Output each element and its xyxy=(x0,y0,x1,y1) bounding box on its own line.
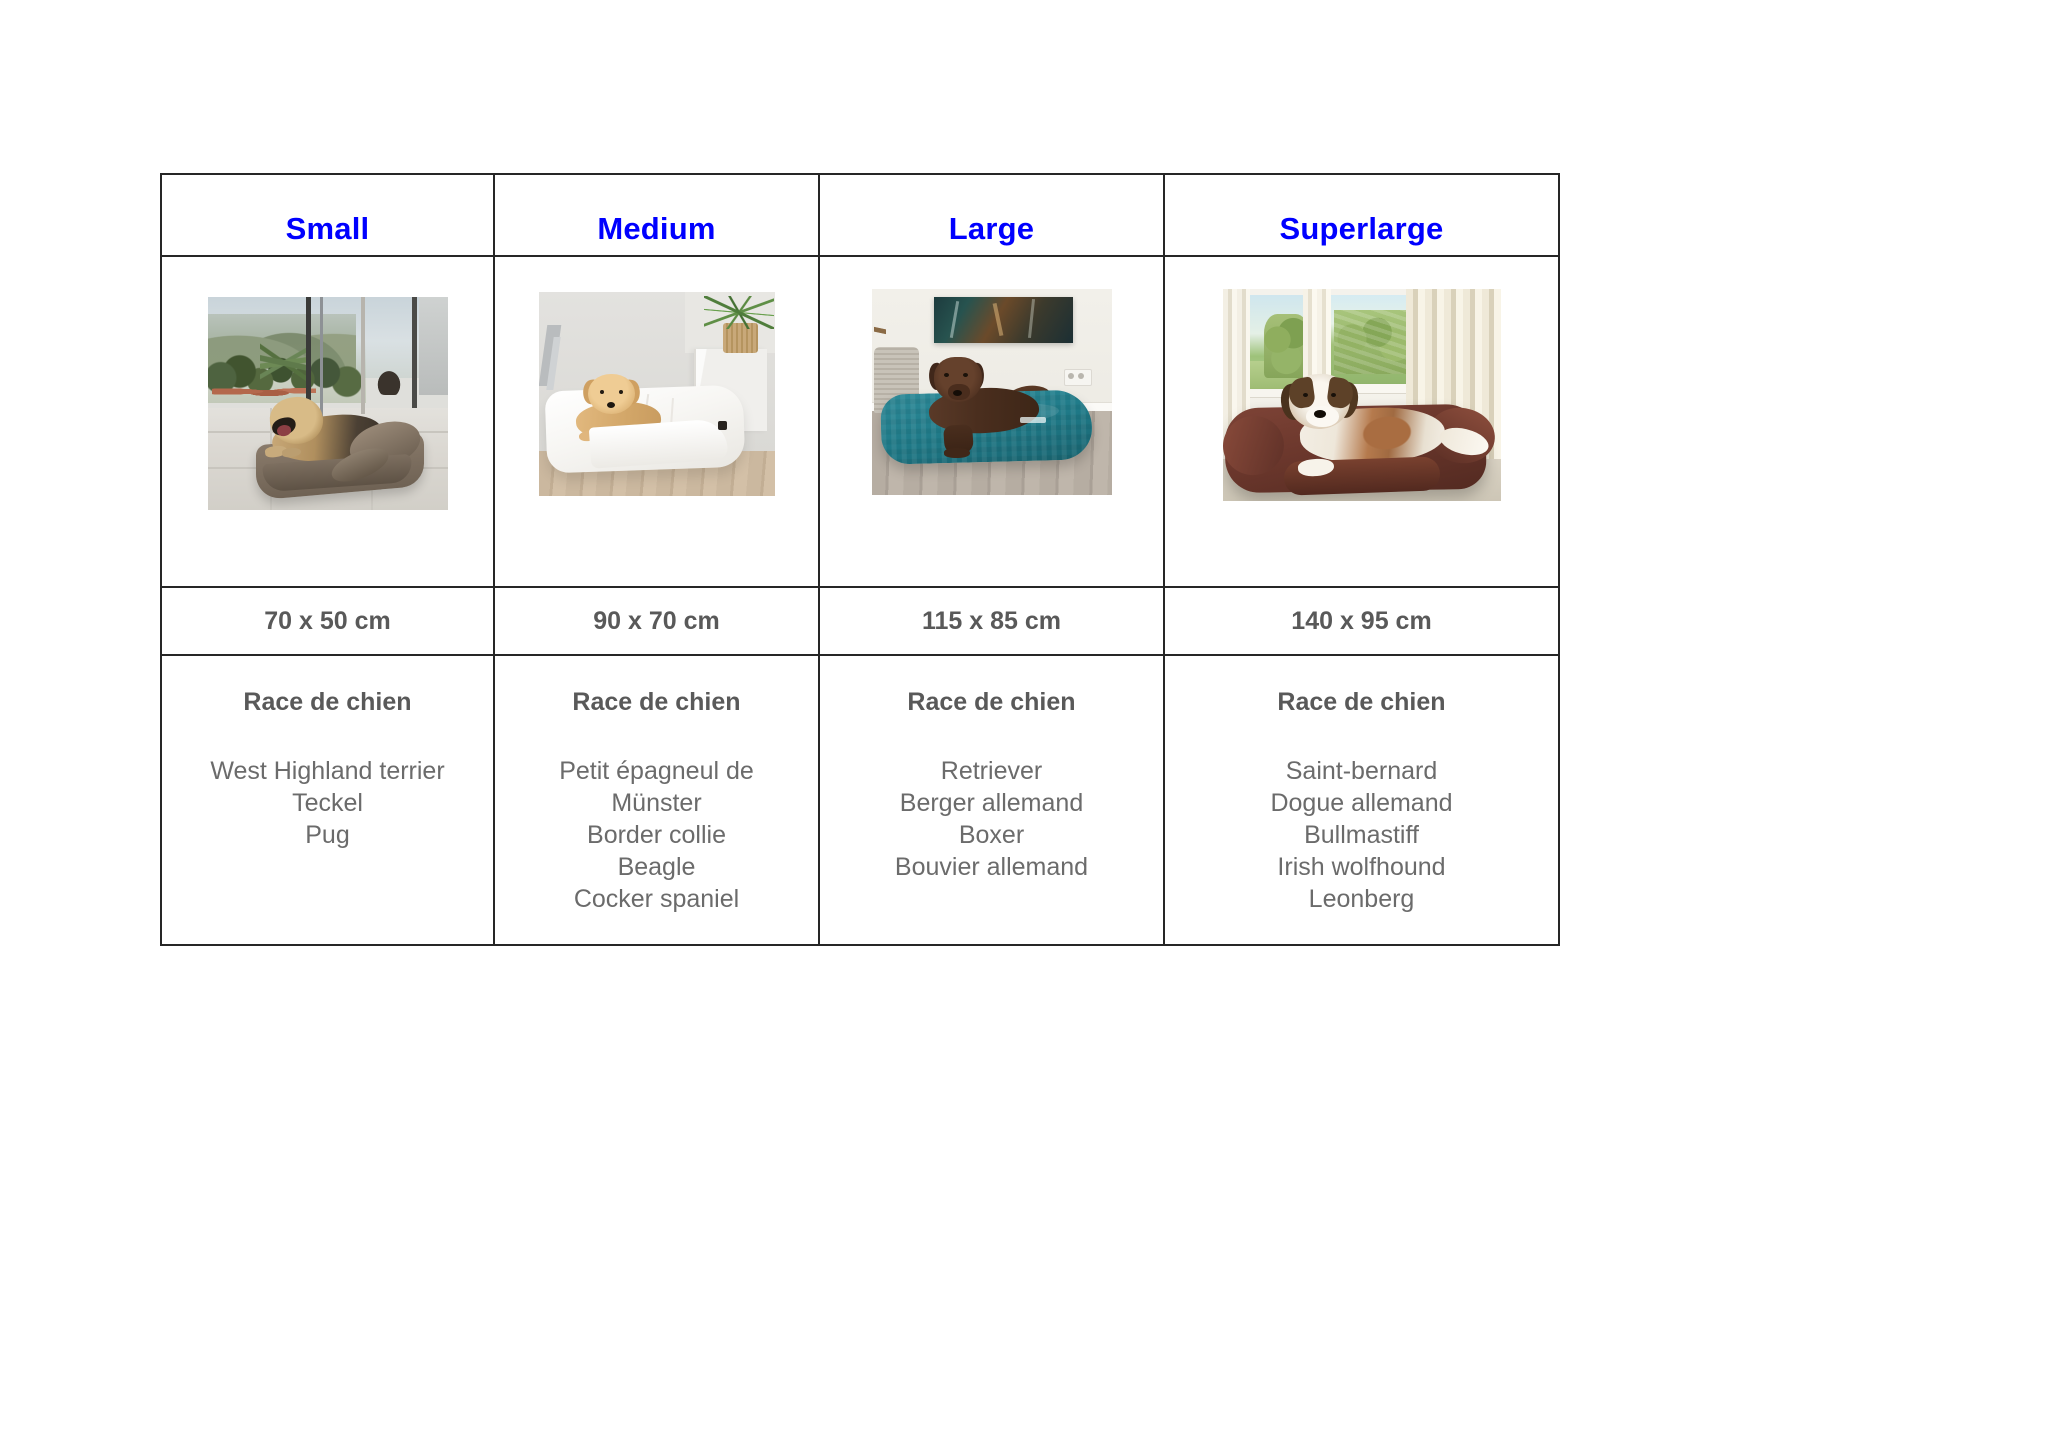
breed-cell-large: Race de chien Retriever Berger allemand … xyxy=(819,655,1164,945)
dimension-value-medium: 90 x 70 cm xyxy=(495,609,818,634)
breed-cell-superlarge: Race de chien Saint-bernard Dogue allema… xyxy=(1164,655,1559,945)
photo-medium-dog-bed xyxy=(539,292,775,496)
dimension-value-large: 115 x 85 cm xyxy=(820,609,1163,634)
photo-wrap-superlarge xyxy=(1165,257,1558,586)
breed-item: Cocker spaniel xyxy=(503,883,810,915)
photo-wrap-medium xyxy=(495,257,818,586)
size-header-cell-small: Small xyxy=(161,174,494,256)
dimension-cell-medium: 90 x 70 cm xyxy=(494,587,819,655)
size-label-small: Small xyxy=(162,187,493,244)
dog-bed-size-table: Small Medium Large Superlarge xyxy=(160,173,1560,946)
breed-heading-large: Race de chien xyxy=(828,690,1155,715)
dimension-cell-superlarge: 140 x 95 cm xyxy=(1164,587,1559,655)
table-row-size-headers: Small Medium Large Superlarge xyxy=(161,174,1559,256)
size-label-medium: Medium xyxy=(495,187,818,244)
breed-heading-small: Race de chien xyxy=(170,690,485,715)
breed-item: Irish wolfhound xyxy=(1173,851,1550,883)
table-row-dimensions: 70 x 50 cm 90 x 70 cm 115 x 85 cm 140 x … xyxy=(161,587,1559,655)
breed-item: Berger allemand xyxy=(828,787,1155,819)
photo-small-dog-bed xyxy=(208,297,448,510)
size-label-large: Large xyxy=(820,187,1163,244)
breed-block-large: Race de chien Retriever Berger allemand … xyxy=(820,656,1163,893)
photo-wrap-small xyxy=(162,257,493,586)
photo-wrap-large xyxy=(820,257,1163,586)
breed-block-superlarge: Race de chien Saint-bernard Dogue allema… xyxy=(1165,656,1558,925)
size-header-cell-medium: Medium xyxy=(494,174,819,256)
size-header-cell-superlarge: Superlarge xyxy=(1164,174,1559,256)
breed-item: Saint-bernard xyxy=(1173,755,1550,787)
dimension-cell-large: 115 x 85 cm xyxy=(819,587,1164,655)
breed-list-medium: Petit épagneul de Münster Border collie … xyxy=(503,755,810,915)
breed-item: Bouvier allemand xyxy=(828,851,1155,883)
breed-heading-superlarge: Race de chien xyxy=(1173,690,1550,715)
dimension-value-small: 70 x 50 cm xyxy=(162,609,493,634)
breed-item: Leonberg xyxy=(1173,883,1550,915)
breed-cell-small: Race de chien West Highland terrier Teck… xyxy=(161,655,494,945)
breed-item: Petit épagneul de xyxy=(503,755,810,787)
dimension-cell-small: 70 x 50 cm xyxy=(161,587,494,655)
breed-block-small: Race de chien West Highland terrier Teck… xyxy=(162,656,493,861)
breed-item: West Highland terrier xyxy=(170,755,485,787)
breed-list-superlarge: Saint-bernard Dogue allemand Bullmastiff… xyxy=(1173,755,1550,915)
breed-list-small: West Highland terrier Teckel Pug xyxy=(170,755,485,851)
dimension-value-superlarge: 140 x 95 cm xyxy=(1165,609,1558,634)
breed-item: Beagle xyxy=(503,851,810,883)
breed-item: Münster xyxy=(503,787,810,819)
breed-item: Boxer xyxy=(828,819,1155,851)
photo-cell-superlarge xyxy=(1164,256,1559,587)
breed-item: Teckel xyxy=(170,787,485,819)
table-row-photos xyxy=(161,256,1559,587)
photo-cell-large xyxy=(819,256,1164,587)
breed-item: Retriever xyxy=(828,755,1155,787)
breed-cell-medium: Race de chien Petit épagneul de Münster … xyxy=(494,655,819,945)
table-row-breeds: Race de chien West Highland terrier Teck… xyxy=(161,655,1559,945)
breed-list-large: Retriever Berger allemand Boxer Bouvier … xyxy=(828,755,1155,883)
photo-large-dog-bed xyxy=(872,289,1112,495)
breed-heading-medium: Race de chien xyxy=(503,690,810,715)
breed-item: Border collie xyxy=(503,819,810,851)
breed-item: Bullmastiff xyxy=(1173,819,1550,851)
size-header-cell-large: Large xyxy=(819,174,1164,256)
breed-item: Dogue allemand xyxy=(1173,787,1550,819)
photo-cell-small xyxy=(161,256,494,587)
photo-cell-medium xyxy=(494,256,819,587)
breed-block-medium: Race de chien Petit épagneul de Münster … xyxy=(495,656,818,925)
breed-item: Pug xyxy=(170,819,485,851)
size-label-superlarge: Superlarge xyxy=(1165,187,1558,244)
page-canvas: Small Medium Large Superlarge xyxy=(0,0,2048,1448)
photo-superlarge-dog-bed xyxy=(1223,289,1501,501)
